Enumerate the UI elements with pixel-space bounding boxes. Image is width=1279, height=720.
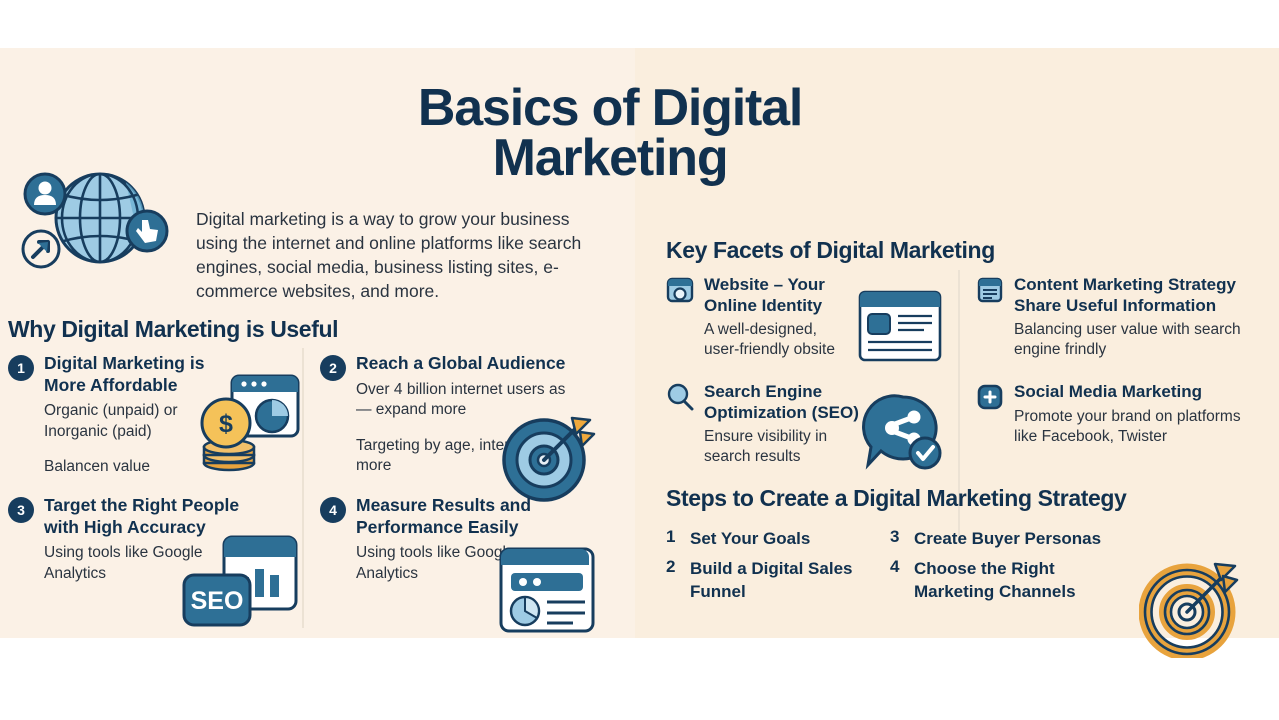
facet-content-marketing: Content Marketing Strategy Share Useful … bbox=[976, 275, 1246, 360]
steps-section-heading: Steps to Create a Digital Marketing Stra… bbox=[666, 485, 1126, 512]
seo-bar-chart-icon: SEO bbox=[180, 525, 300, 635]
facet-social-media-sub: Promote your brand on platforms like Fac… bbox=[1014, 407, 1251, 447]
why-item-1-badge: 1 bbox=[8, 355, 34, 381]
why-item-3-badge: 3 bbox=[8, 497, 34, 523]
analytics-dashboard-icon bbox=[497, 545, 597, 635]
magnifier-icon bbox=[666, 383, 694, 411]
step-2-text: Build a Digital Sales Funnel bbox=[690, 557, 876, 603]
facet-seo-title: Search Engine Optimization (SEO) bbox=[704, 382, 866, 423]
step-3-text: Create Buyer Personas bbox=[914, 527, 1101, 550]
facet-social-media-title: Social Media Marketing bbox=[1014, 382, 1251, 403]
step-3-number: 3 bbox=[890, 527, 914, 550]
intro-paragraph: Digital marketing is a way to grow your … bbox=[196, 207, 611, 303]
svg-text:$: $ bbox=[219, 410, 233, 438]
step-4-text: Choose the Right Marketing Channels bbox=[914, 557, 1120, 603]
document-lines-icon bbox=[976, 276, 1004, 304]
target-bullseye-icon bbox=[1139, 558, 1243, 658]
why-section-heading: Why Digital Marketing is Useful bbox=[8, 316, 338, 343]
share-bubble-check-icon bbox=[862, 393, 944, 473]
step-item-3: 3 Create Buyer Personas bbox=[890, 527, 1130, 550]
page-title: Basics of Digital Marketing bbox=[330, 83, 890, 183]
globe-network-icon bbox=[14, 158, 179, 278]
step-1-text: Set Your Goals bbox=[690, 527, 810, 550]
facet-seo-sub: Ensure visibility in search results bbox=[704, 427, 866, 467]
target-arrow-icon bbox=[500, 408, 596, 504]
facet-website: Website – Your Online Identity A well-de… bbox=[666, 275, 856, 360]
facet-seo: Search Engine Optimization (SEO) Ensure … bbox=[666, 382, 866, 467]
step-item-1: 1 Set Your Goals bbox=[666, 527, 886, 550]
step-4-number: 4 bbox=[890, 557, 914, 603]
why-item-4-title: Measure Results and Performance Easily bbox=[356, 495, 565, 538]
webpage-layout-icon bbox=[858, 290, 942, 362]
step-1-number: 1 bbox=[666, 527, 690, 550]
step-item-2: 2 Build a Digital Sales Funnel bbox=[666, 557, 876, 603]
facets-section-heading: Key Facets of Digital Marketing bbox=[666, 237, 995, 264]
facet-social-media: Social Media Marketing Promote your bran… bbox=[976, 382, 1251, 447]
facet-website-title: Website – Your Online Identity bbox=[704, 275, 856, 316]
why-item-2-badge: 2 bbox=[320, 355, 346, 381]
infographic-canvas: Basics of Digital Marketing bbox=[0, 48, 1279, 638]
why-item-4-badge: 4 bbox=[320, 497, 346, 523]
coins-dollar-dashboard-icon: $ bbox=[196, 370, 301, 480]
left-column-divider bbox=[302, 348, 304, 628]
step-item-4: 4 Choose the Right Marketing Channels bbox=[890, 557, 1120, 603]
step-2-number: 2 bbox=[666, 557, 690, 603]
facet-content-marketing-title: Content Marketing Strategy Share Useful … bbox=[1014, 275, 1246, 316]
facet-content-marketing-sub: Balancing user value with search engine … bbox=[1014, 320, 1246, 360]
why-item-2-title: Reach a Global Audience bbox=[356, 353, 570, 375]
browser-window-icon bbox=[666, 276, 694, 304]
facet-website-sub: A well-designed, user-friendly obsite bbox=[704, 320, 856, 360]
plus-square-icon bbox=[976, 383, 1004, 411]
seo-badge-label: SEO bbox=[191, 587, 244, 615]
